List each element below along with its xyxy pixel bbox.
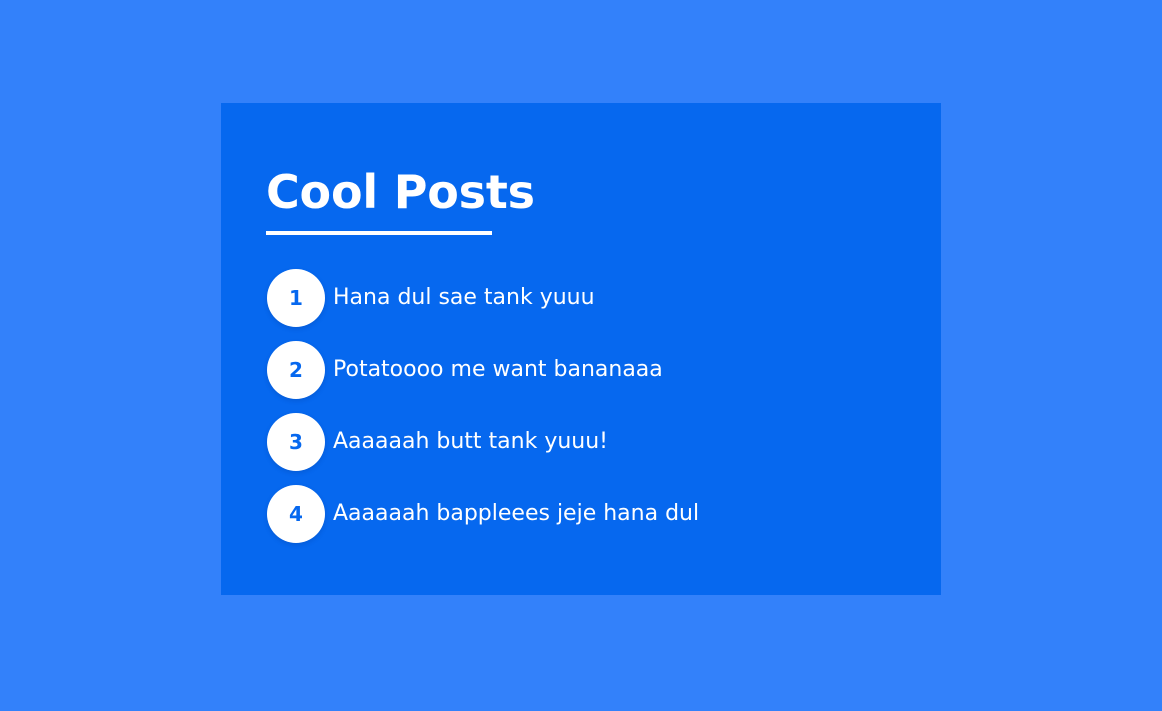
post-label: Aaaaaah butt tank yuuu! xyxy=(333,428,608,456)
post-number-badge: 2 xyxy=(267,341,325,399)
list-item[interactable]: 4 Aaaaaah bappleees jeje hana dul xyxy=(267,485,907,543)
post-label: Hana dul sae tank yuuu xyxy=(333,284,595,312)
card-header: Cool Posts xyxy=(266,165,492,235)
list-item[interactable]: 3 Aaaaaah butt tank yuuu! xyxy=(267,413,907,471)
post-list: 1 Hana dul sae tank yuuu 2 Potatoooo me … xyxy=(267,269,907,543)
post-number-badge: 4 xyxy=(267,485,325,543)
post-number-badge: 3 xyxy=(267,413,325,471)
cool-posts-card: Cool Posts 1 Hana dul sae tank yuuu 2 Po… xyxy=(221,103,941,595)
post-label: Aaaaaah bappleees jeje hana dul xyxy=(333,500,699,528)
post-label: Potatoooo me want bananaaa xyxy=(333,356,663,384)
page-canvas: Cool Posts 1 Hana dul sae tank yuuu 2 Po… xyxy=(0,0,1162,711)
list-item[interactable]: 1 Hana dul sae tank yuuu xyxy=(267,269,907,327)
card-content: Cool Posts 1 Hana dul sae tank yuuu 2 Po… xyxy=(266,165,941,595)
page-title: Cool Posts xyxy=(266,165,492,219)
list-item[interactable]: 2 Potatoooo me want bananaaa xyxy=(267,341,907,399)
title-underline-rule xyxy=(266,231,492,235)
post-number-badge: 1 xyxy=(267,269,325,327)
